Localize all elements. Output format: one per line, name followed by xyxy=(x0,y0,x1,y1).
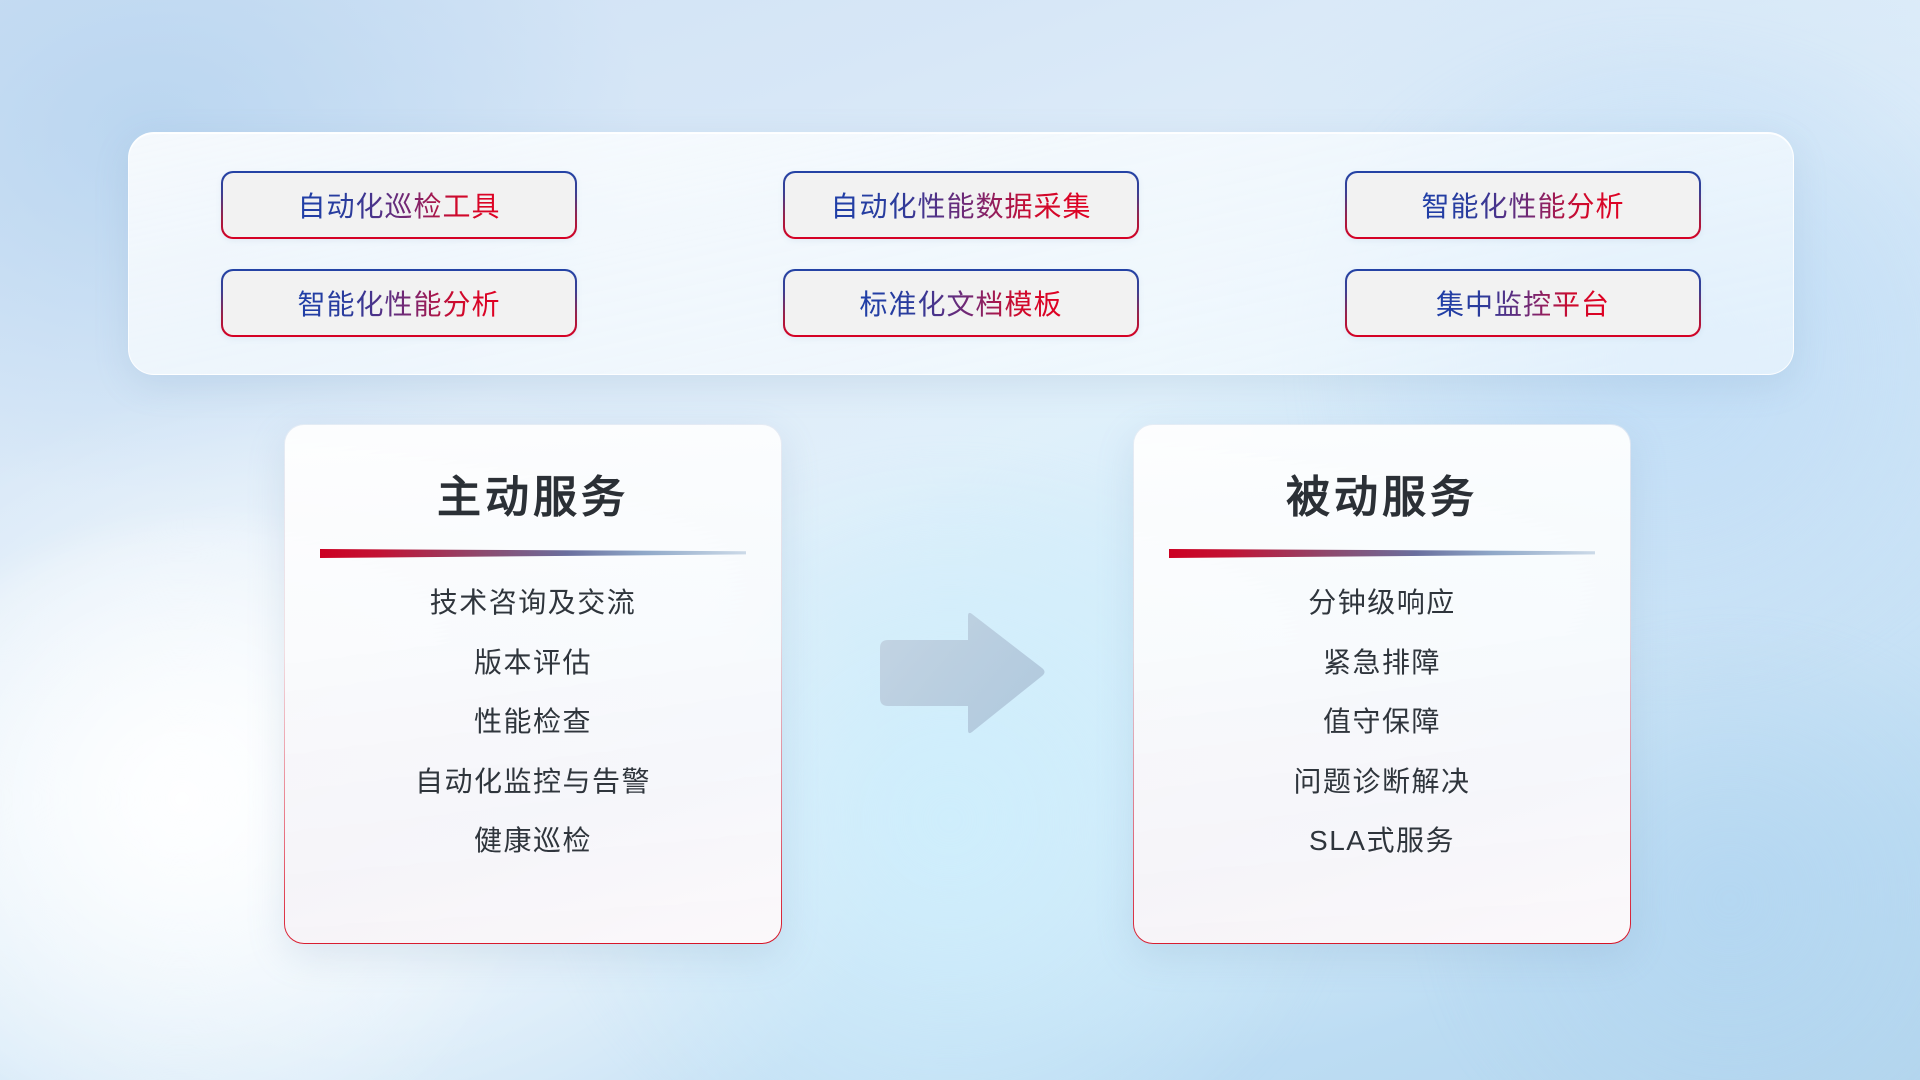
capability-pill-label: 标准化文档模板 xyxy=(859,283,1062,323)
capability-pill-label: 智能化性能分析 xyxy=(297,283,500,323)
card-title: 被动服务 xyxy=(1286,461,1478,525)
capability-pill-label: 集中监控平台 xyxy=(1436,283,1610,323)
slide-canvas: 自动化巡检工具 自动化性能数据采集 智能化性能分析 智能化性能分析 标准化文档模… xyxy=(0,0,1920,1080)
capability-pill-intelligent-performance-analysis-a[interactable]: 智能化性能分析 xyxy=(1345,171,1701,239)
list-item: 健康巡检 xyxy=(474,824,592,858)
capability-pill-centralized-monitoring-platform[interactable]: 集中监控平台 xyxy=(1345,269,1701,337)
capability-pill-automated-performance-data-collection[interactable]: 自动化性能数据采集 xyxy=(783,171,1139,239)
list-item: 值守保障 xyxy=(1323,705,1441,739)
capability-row-2: 智能化性能分析 标准化文档模板 集中监控平台 xyxy=(221,269,1701,337)
list-item: SLA式服务 xyxy=(1309,824,1455,858)
capability-pill-automated-inspection-tool[interactable]: 自动化巡检工具 xyxy=(221,171,577,239)
arrow-right-icon xyxy=(872,612,1048,734)
list-item: 技术咨询及交流 xyxy=(430,586,637,620)
capability-pill-label: 自动化性能数据采集 xyxy=(830,185,1091,225)
list-item: 问题诊断解决 xyxy=(1293,765,1470,799)
list-item: 版本评估 xyxy=(474,646,592,680)
list-item: 性能检查 xyxy=(474,705,592,739)
capability-panel: 自动化巡检工具 自动化性能数据采集 智能化性能分析 智能化性能分析 标准化文档模… xyxy=(128,132,1794,375)
capability-pill-label: 自动化巡检工具 xyxy=(297,185,500,225)
card-title: 主动服务 xyxy=(437,461,629,525)
capability-row-1: 自动化巡检工具 自动化性能数据采集 智能化性能分析 xyxy=(221,171,1701,239)
service-card-proactive: 主动服务 技术咨询及交流 版本评估 性能检查 自动化监控与告警 健康巡检 xyxy=(284,424,782,944)
service-item-list: 技术咨询及交流 版本评估 性能检查 自动化监控与告警 健康巡检 xyxy=(285,586,781,858)
list-item: 紧急排障 xyxy=(1323,646,1441,680)
list-item: 分钟级响应 xyxy=(1308,586,1456,620)
capability-pill-standardized-doc-template[interactable]: 标准化文档模板 xyxy=(783,269,1139,337)
service-card-reactive: 被动服务 分钟级响应 紧急排障 值守保障 问题诊断解决 SLA式服务 xyxy=(1133,424,1631,944)
service-item-list: 分钟级响应 紧急排障 值守保障 问题诊断解决 SLA式服务 xyxy=(1134,586,1630,858)
card-divider-accent xyxy=(1169,547,1595,560)
card-divider-accent xyxy=(320,547,746,560)
list-item: 自动化监控与告警 xyxy=(415,765,651,799)
capability-pill-label: 智能化性能分析 xyxy=(1421,185,1624,225)
capability-pill-intelligent-performance-analysis-b[interactable]: 智能化性能分析 xyxy=(221,269,577,337)
